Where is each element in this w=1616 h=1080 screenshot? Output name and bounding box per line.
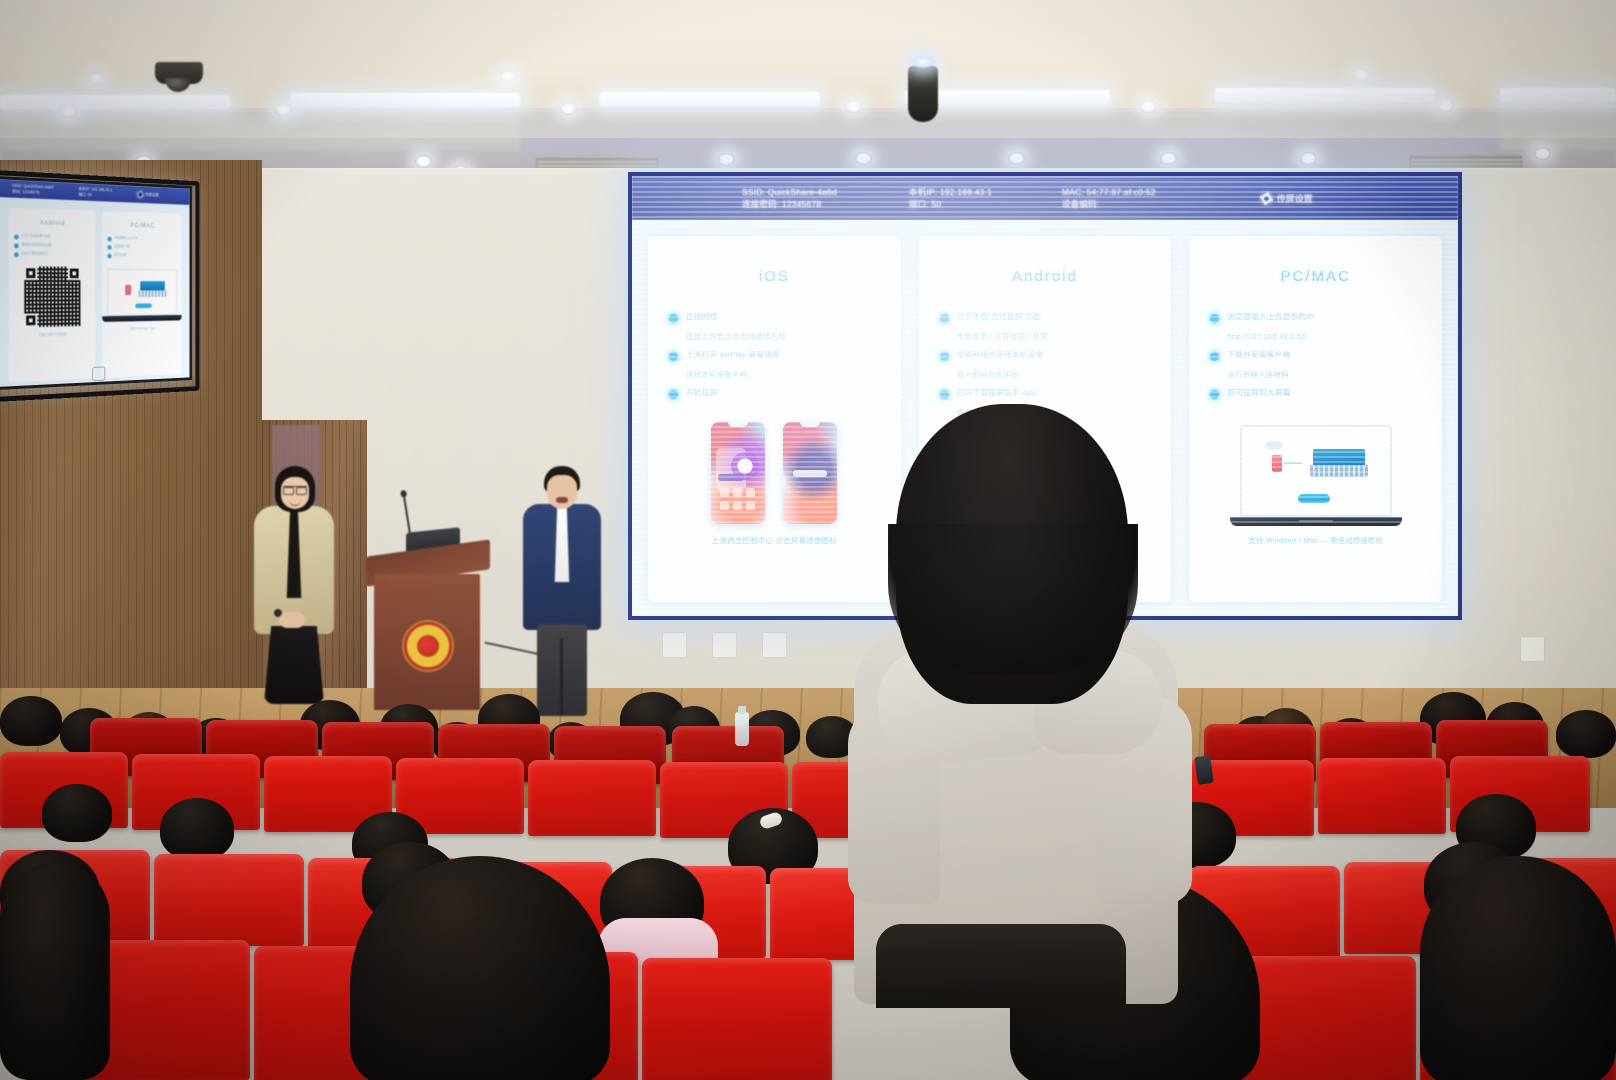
presenter-woman — [248, 466, 338, 706]
ceiling-downlight — [1140, 100, 1157, 113]
step-item: 即可投屏到大屏幕 — [1209, 387, 1422, 400]
step-item: 搜索网络并选择本机设备 — [939, 349, 1152, 362]
wall-outlet — [1520, 636, 1545, 662]
step-number-icon — [14, 234, 19, 239]
step-number-icon — [107, 254, 111, 259]
step-number-icon — [939, 351, 950, 362]
school-crest — [404, 622, 452, 670]
ceiling-downlight — [845, 100, 862, 113]
ceiling-downlight — [560, 102, 577, 115]
lectern — [366, 548, 490, 710]
step-subtext: 连接上方显示的无线网络名称 — [686, 331, 881, 342]
step-item: 下载并安装客户端 — [1209, 349, 1422, 362]
qr-code — [24, 266, 80, 327]
gear-icon — [138, 192, 143, 198]
gear-icon — [1261, 193, 1272, 204]
header-mac-field: MAC: 54:77:87:af:c0:52 设备编码: — [1062, 186, 1156, 211]
step-item: 扫码下载投屏助手 App — [939, 387, 1152, 400]
auditorium-photo: SSID: QuickShare-4a6d 密码: 12345678 本机IP:… — [0, 0, 1616, 1080]
audience-head — [160, 798, 234, 860]
ceiling-downlight — [275, 103, 292, 116]
glasses-icon — [283, 486, 307, 493]
step-subtext: 输入密码完成连接 — [957, 369, 1152, 380]
foreground-person-hoodie — [848, 404, 1188, 1004]
wall-outlet — [662, 632, 687, 658]
side-monitor-body: Android 打开“无线投屏”功能 搜索并选择本机设备 扫码下载投屏助手 扫描… — [0, 197, 190, 387]
ceiling-downlight — [1352, 68, 1369, 81]
step-number-icon — [107, 245, 111, 250]
step-number-icon — [668, 389, 679, 400]
step-item: 上滑打开 AirPlay 屏幕镜像 — [668, 349, 881, 362]
step-subtext: 选择本机设备名称 — [686, 369, 881, 380]
step-number-icon — [668, 313, 679, 324]
step-number-icon — [668, 351, 679, 362]
side-monitor-ssid: SSID: QuickShare-4a6d 密码: 12345678 — [12, 183, 53, 196]
ios-steps: 连接网络 连接上方显示的无线网络名称 上滑打开 AirPlay 屏幕镜像 选择本… — [662, 311, 887, 407]
audience-head — [42, 784, 112, 842]
mouth — [556, 497, 568, 503]
side-display-monitor[interactable]: SSID: QuickShare-4a6d 密码: 12345678 本机IP:… — [0, 176, 192, 390]
presenter-man — [520, 466, 604, 716]
side-card-android: Android 打开“无线投屏”功能 搜索并选择本机设备 扫码下载投屏助手 扫描… — [8, 207, 95, 382]
side-step: 扫码下载投屏助手 — [14, 251, 90, 258]
step-number-icon — [1209, 351, 1220, 362]
header-ssid-field: SSID: QuickShare-4a6d 连接密码: 12345678 — [742, 186, 837, 211]
side-step: 打开“无线投屏”功能 — [14, 233, 90, 241]
ceiling-downlight — [1300, 152, 1317, 165]
step-number-icon — [1209, 389, 1220, 400]
phone-screenshots — [710, 421, 838, 525]
step-number-icon — [939, 313, 950, 324]
ceiling-projector-icon — [908, 66, 938, 122]
step-item: 连接网络 — [668, 311, 881, 324]
ceiling-downlight — [88, 72, 105, 85]
laptop-illustration — [102, 269, 181, 322]
audience-head-foreground — [0, 862, 110, 1080]
step-subtext: http://192.168.43.1:50 — [1227, 331, 1422, 342]
side-card-pcmac: PC/MAC 浏览器输入上方IP 安装客户端 即可投屏 支持 Wind — [102, 211, 181, 378]
step-number-icon — [107, 237, 111, 242]
hands — [279, 612, 305, 628]
step-number-icon — [1209, 313, 1220, 324]
lap-dark-garment — [876, 924, 1126, 1008]
pcmac-steps: 浏览器输入上方显示的IP http://192.168.43.1:50 下载并安… — [1203, 311, 1428, 407]
ceiling-light-strip — [1500, 88, 1616, 102]
app-header-bar: SSID: QuickShare-4a6d 连接密码: 12345678 本机I… — [632, 176, 1458, 220]
ceiling-light-strip — [290, 93, 520, 107]
home-square-icon[interactable] — [92, 366, 105, 381]
illustrated-connect-button — [1298, 494, 1330, 503]
seat — [154, 854, 304, 946]
step-item: 开始投屏 — [668, 387, 881, 400]
wall-outlet — [712, 632, 737, 658]
phone-screenshot-control-center — [710, 421, 766, 525]
ceiling-downlight — [1008, 152, 1025, 165]
side-step: 即可投屏 — [107, 253, 176, 260]
ceiling-downlight — [415, 155, 432, 168]
step-item: 浏览器输入上方显示的IP — [1209, 311, 1422, 324]
wall-outlet — [762, 632, 787, 658]
side-step: 搜索并选择本机设备 — [14, 242, 90, 249]
seat — [1318, 758, 1446, 834]
header-ip-field: 本机IP: 192.168.43.1 端口: 50 — [909, 186, 992, 211]
seat — [642, 958, 832, 1080]
laptop-illustration — [1230, 425, 1402, 526]
step-item: 打开手机“无线投屏”功能 — [939, 311, 1152, 324]
ceiling-light-strip — [0, 95, 230, 109]
ceiling-downlight — [718, 153, 735, 166]
ceiling-downlight — [60, 105, 77, 118]
step-number-icon — [939, 389, 950, 400]
pcmac-caption: 支持 Windows / Mac — 免驱动即插即用 — [1248, 536, 1382, 546]
ceiling-downlight — [500, 70, 517, 83]
audience-head — [1556, 710, 1616, 758]
instruction-card-pcmac: PC/MAC 浏览器输入上方显示的IP http://192.168.43.1:… — [1189, 236, 1442, 602]
side-step: 浏览器输入上方IP — [107, 236, 176, 243]
ceiling-light-strip — [1215, 88, 1435, 102]
step-number-icon — [14, 252, 19, 257]
step-subtext: 运行后输入连接码 — [1227, 369, 1422, 380]
dome-camera-icon — [155, 62, 203, 84]
side-step: 安装客户端 — [107, 244, 176, 251]
ceiling-downlight — [1160, 152, 1177, 165]
face — [547, 475, 577, 509]
audience-seating — [0, 690, 1616, 1080]
ceiling-light-strip — [600, 92, 820, 106]
ceiling-downlight — [1534, 147, 1551, 160]
laptop-keyboard-base — [1230, 517, 1402, 526]
side-monitor-ip: 本机IP: 192.168.43.1 端口: 50 — [78, 186, 112, 199]
audience-head — [0, 696, 62, 746]
water-bottle — [735, 712, 749, 746]
ceiling-downlight — [855, 152, 872, 165]
step-number-icon — [14, 243, 19, 248]
phone-screenshot-mirroring — [782, 421, 838, 525]
ceiling-soffit — [0, 112, 1616, 138]
laptop-screen — [1240, 425, 1392, 517]
settings-button[interactable]: 传屏设置 — [1261, 192, 1313, 205]
seat — [528, 760, 656, 836]
long-hair — [896, 404, 1128, 704]
phone-caption: 上滑调出控制中心 点击屏幕镜像图标 — [712, 535, 837, 546]
ceiling-downlight — [1437, 99, 1454, 112]
side-monitor-settings-button[interactable]: 传屏设置 — [138, 192, 159, 199]
audience-head-foreground — [1420, 856, 1616, 1080]
step-subtext: 电脑管家 / 多屏协同 / 投屏 — [957, 331, 1152, 342]
